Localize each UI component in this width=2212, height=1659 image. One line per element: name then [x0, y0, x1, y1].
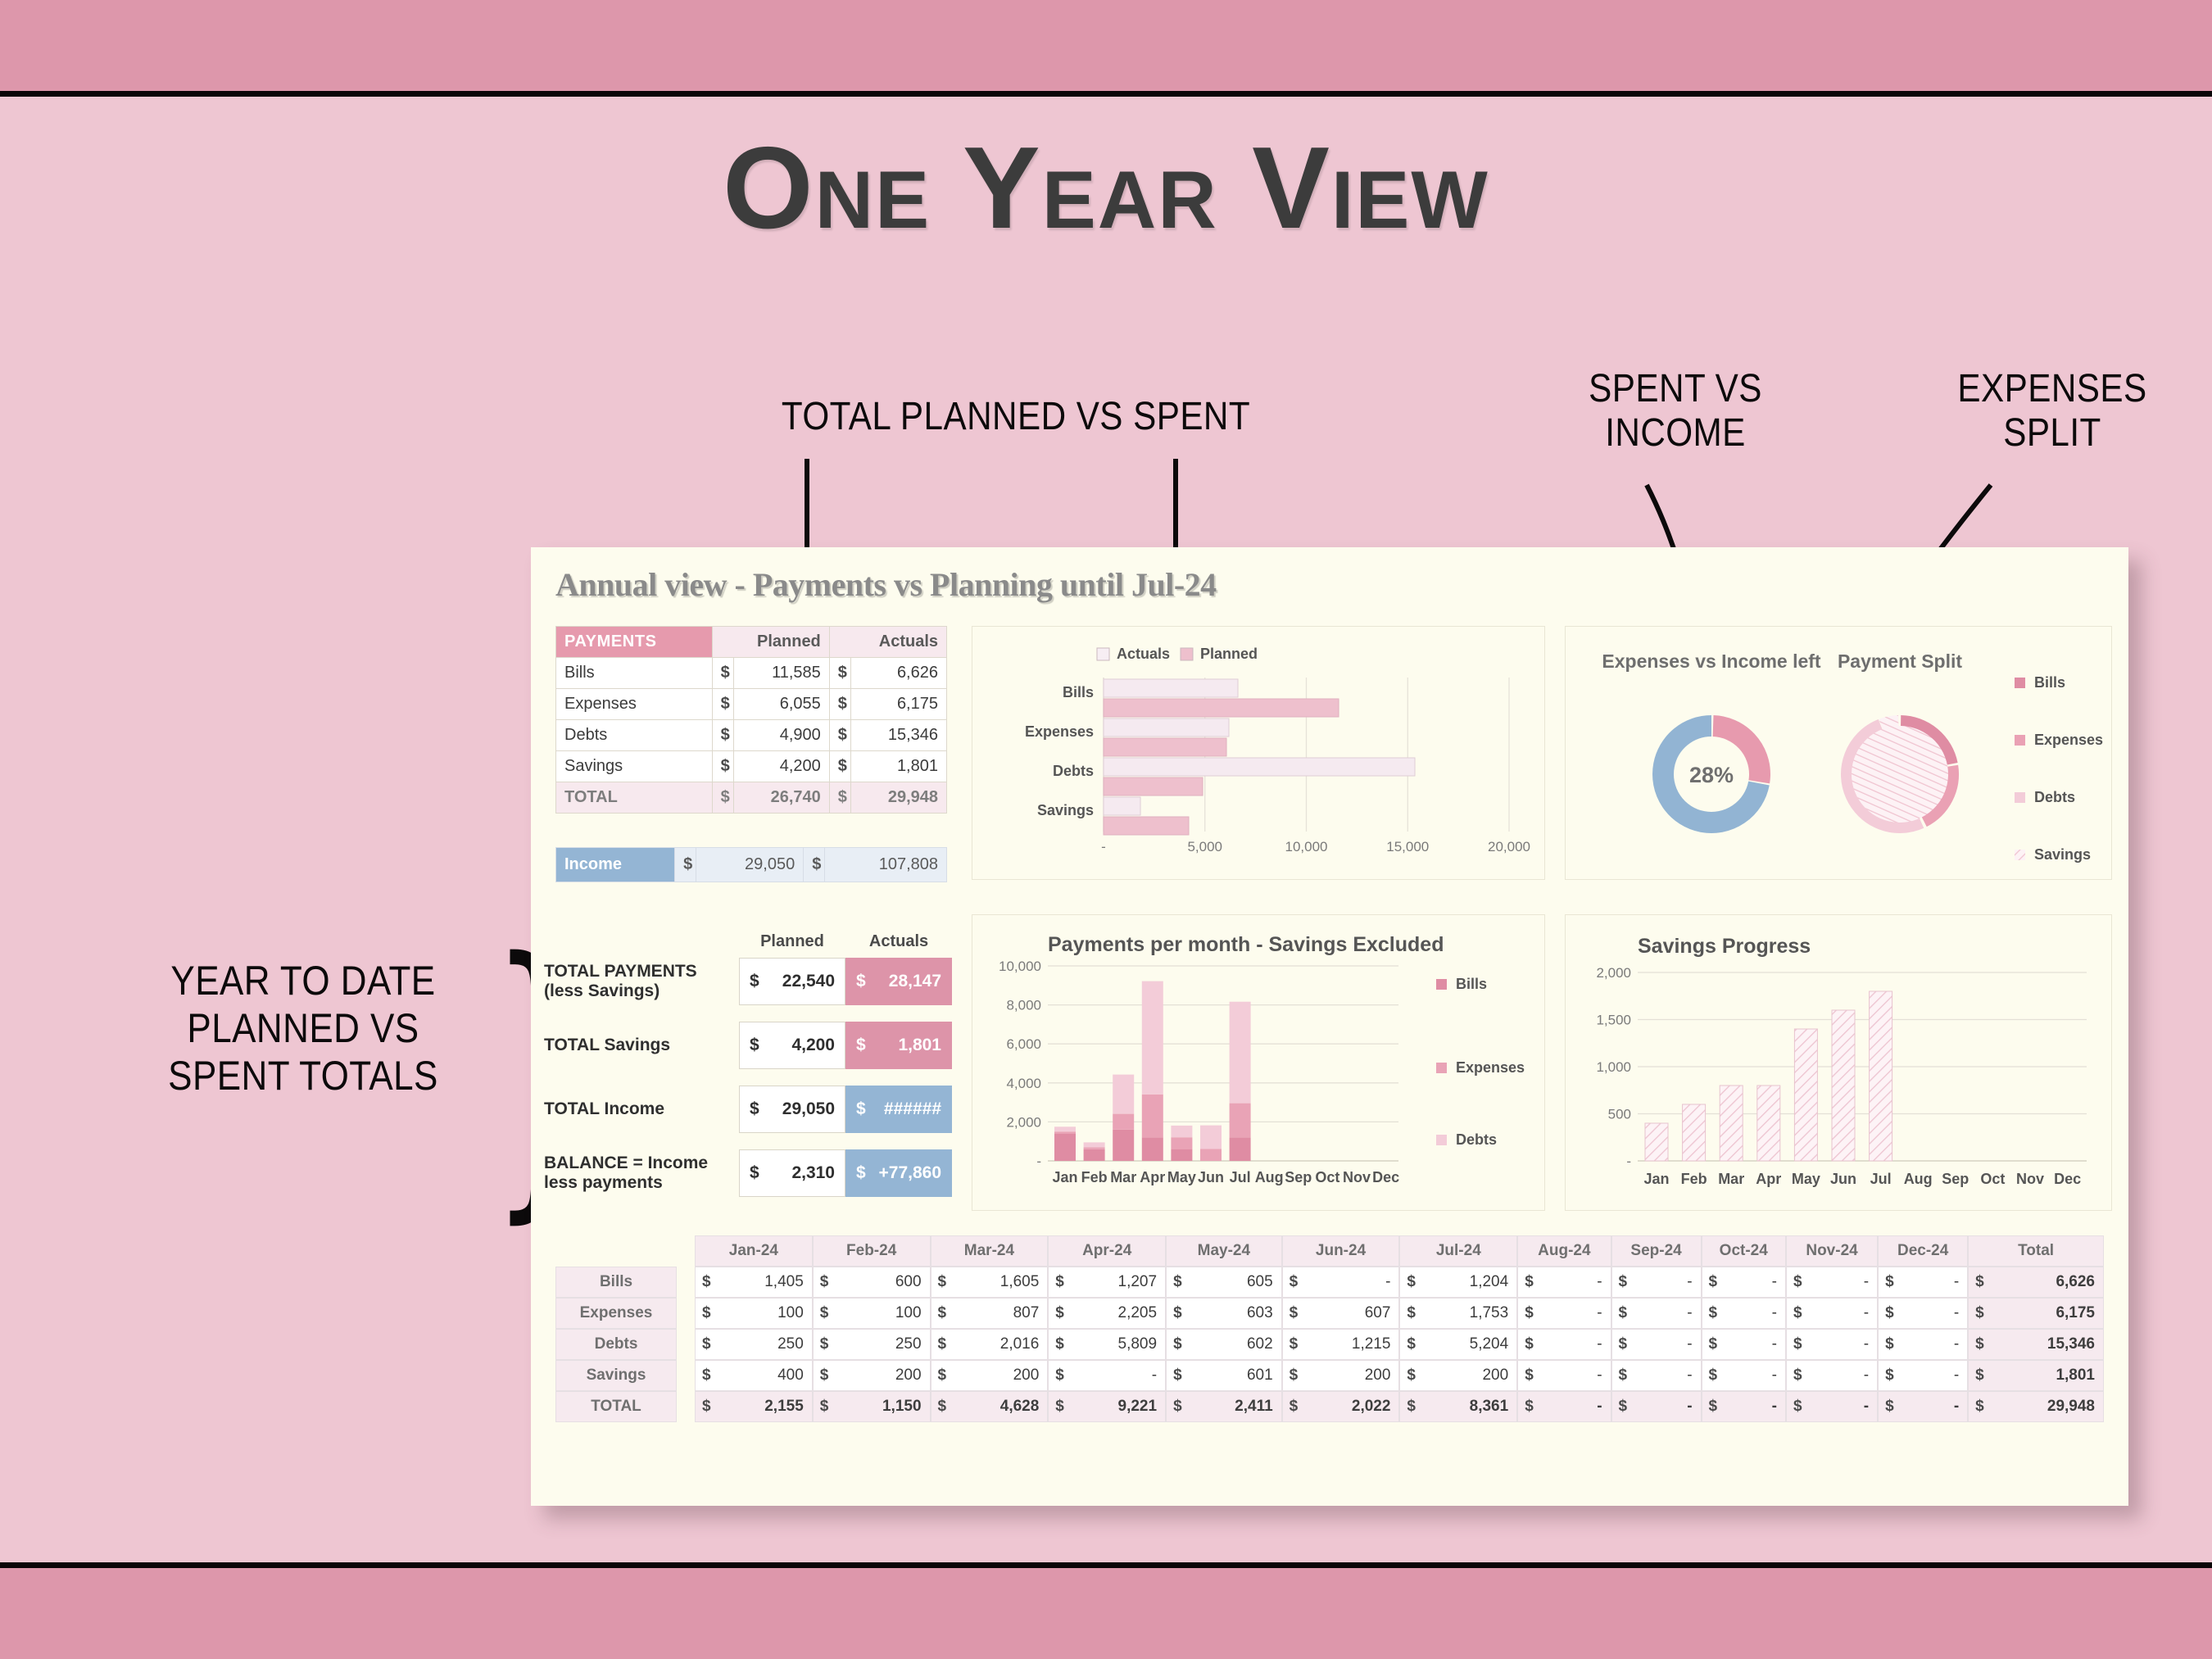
- payments-header-label: PAYMENTS: [556, 627, 713, 658]
- actual-value: 6,626: [850, 658, 946, 689]
- y-tick-3: 8,000: [1006, 998, 1041, 1013]
- currency-symbol: $: [1517, 1329, 1535, 1360]
- spacer-cell: [677, 1267, 695, 1298]
- payments-per-month-svg: Payments per month - Savings Excluded 10…: [972, 915, 1546, 1212]
- x-tick-2: 10,000: [1285, 839, 1328, 854]
- currency-symbol: $: [856, 972, 866, 991]
- currency-symbol: $: [1399, 1391, 1417, 1422]
- currency-symbol: $: [931, 1360, 949, 1391]
- x-label-may: May: [1167, 1169, 1196, 1185]
- ytd-planned-value: 22,540: [782, 972, 835, 991]
- y-tick-0b: 2,000: [1006, 1114, 1041, 1130]
- currency-symbol: $: [1282, 1329, 1300, 1360]
- currency-symbol: $: [1702, 1360, 1720, 1391]
- total-planned: 26,740: [733, 782, 829, 814]
- x-label-nov: Nov: [1343, 1169, 1371, 1185]
- currency-symbol: $: [1702, 1298, 1720, 1329]
- currency-symbol: $: [695, 1298, 713, 1329]
- legend-label-expenses: Expenses: [1456, 1059, 1525, 1076]
- annotation-expenses-split: EXPENSESSPLIT: [1933, 367, 2171, 456]
- currency-symbol: $: [712, 782, 733, 814]
- cell-value: 200: [949, 1360, 1049, 1391]
- currency-symbol: $: [829, 751, 850, 782]
- dashboard-panel: Annual view - Payments vs Planning until…: [531, 547, 2128, 1506]
- planned-value: 4,200: [733, 751, 829, 782]
- currency-symbol: $: [1968, 1329, 1986, 1360]
- cell-value: -: [1720, 1360, 1786, 1391]
- income-row-table: Income $ 29,050 $ 107,808: [555, 847, 947, 882]
- cell-value: -: [1896, 1298, 1968, 1329]
- cell-value: -: [1630, 1267, 1702, 1298]
- currency-symbol: $: [1166, 1329, 1184, 1360]
- cell-value: 6,175: [1986, 1298, 2104, 1329]
- cell-value: 1,207: [1066, 1267, 1166, 1298]
- table-row[interactable]: Expenses$100$100$807$2,205$603$607$1,753…: [555, 1298, 2104, 1329]
- ytd-header-actuals: Actuals: [845, 932, 952, 951]
- chart-donuts[interactable]: Expenses vs Income left Payment Split 28…: [1565, 626, 2112, 880]
- x-label-jul: Jul: [1230, 1169, 1251, 1185]
- donut-payment-split: [1836, 710, 1964, 838]
- ytd-header-planned: Planned: [739, 932, 845, 951]
- ytd-header-row: Planned Actuals: [544, 932, 954, 951]
- x-label-dec: Dec: [1372, 1169, 1399, 1185]
- x-label-oct: Oct: [1315, 1169, 1339, 1185]
- ytd-actual-value: 1,801: [898, 1036, 941, 1055]
- y-tick-0: -: [1626, 1154, 1631, 1169]
- cell-value: 200: [1300, 1360, 1400, 1391]
- cell-value: -: [1804, 1267, 1878, 1298]
- income-planned: 29,050: [696, 848, 804, 882]
- currency-symbol: $: [931, 1329, 949, 1360]
- y-tick-1000: 1,000: [1596, 1059, 1631, 1075]
- bottom-border-band: [0, 1562, 2212, 1659]
- cell-value: 100: [831, 1298, 931, 1329]
- row-label: Bills: [556, 658, 713, 689]
- cell-value: 2,155: [713, 1391, 813, 1422]
- currency-symbol: $: [1878, 1329, 1896, 1360]
- bar-group-jul: [1230, 1002, 1251, 1161]
- table-total-row: TOTAL $ 26,740 $ 29,948: [556, 782, 947, 814]
- ytd-actual-cell: $ ######: [845, 1086, 952, 1133]
- currency-symbol: $: [829, 720, 850, 751]
- column-header-dec: Dec-24: [1878, 1235, 1968, 1267]
- x-label-may: May: [1792, 1171, 1820, 1187]
- table-row[interactable]: Debts$250$250$2,016$5,809$602$1,215$5,20…: [555, 1329, 2104, 1360]
- legend-label-expenses: Expenses: [2034, 732, 2103, 748]
- cell-value: 100: [713, 1298, 813, 1329]
- bar-group-jan: [1054, 1126, 1076, 1161]
- x-label-jun: Jun: [1830, 1171, 1856, 1187]
- x-label-sep: Sep: [1942, 1171, 1969, 1187]
- ytd-label: TOTAL PAYMENTS (less Savings): [544, 962, 739, 1001]
- cell-value: -: [1720, 1267, 1786, 1298]
- cell-value: 1,204: [1417, 1267, 1517, 1298]
- ytd-planned-cell: $ 29,050: [739, 1086, 845, 1133]
- currency-symbol: $: [712, 720, 733, 751]
- bar-apr: [1757, 1086, 1780, 1161]
- x-label-apr: Apr: [1756, 1171, 1781, 1187]
- spacer-cell: [677, 1391, 695, 1422]
- page-title: One Year View: [0, 121, 2212, 256]
- x-tick-1: 5,000: [1187, 839, 1222, 854]
- row-label: Debts: [556, 720, 713, 751]
- cell-value: 605: [1184, 1267, 1282, 1298]
- row-label: Savings: [556, 751, 713, 782]
- spacer-cell: [677, 1329, 695, 1360]
- row-label: TOTAL: [555, 1391, 677, 1422]
- x-label-sep: Sep: [1285, 1169, 1312, 1185]
- currency-symbol: $: [750, 972, 759, 991]
- spacer-cell: [677, 1235, 695, 1267]
- currency-symbol: $: [1611, 1329, 1630, 1360]
- donut-title-payment-split: Payment Split: [1838, 650, 1962, 672]
- category-label-savings: Savings: [1037, 802, 1094, 818]
- table-row[interactable]: Savings$400$200$200$-$601$200$200$-$-$-$…: [555, 1360, 2104, 1391]
- currency-symbol: $: [1702, 1391, 1720, 1422]
- currency-symbol: $: [1611, 1267, 1630, 1298]
- bar-group-mar: [1113, 1075, 1134, 1161]
- planned-value: 11,585: [733, 658, 829, 689]
- cell-value: 5,204: [1417, 1329, 1517, 1360]
- cell-value: -: [1720, 1391, 1786, 1422]
- x-label-oct: Oct: [1980, 1171, 2005, 1187]
- cell-value: -: [1535, 1360, 1611, 1391]
- cell-value: 603: [1184, 1298, 1282, 1329]
- currency-symbol: $: [1048, 1298, 1066, 1329]
- row-label: Savings: [555, 1360, 677, 1391]
- cell-value: 1,150: [831, 1391, 931, 1422]
- ytd-label: TOTAL Income: [544, 1099, 739, 1119]
- row-label: Expenses: [556, 689, 713, 720]
- currency-symbol: $: [829, 782, 850, 814]
- column-header-sep: Sep-24: [1611, 1235, 1702, 1267]
- table-header-row: Jan-24 Feb-24 Mar-24 Apr-24 May-24 Jun-2…: [555, 1235, 2104, 1267]
- x-label-aug: Aug: [1904, 1171, 1933, 1187]
- annotation-spent-vs-income: SPENT VSINCOME: [1542, 367, 1809, 456]
- cell-value: -: [1804, 1329, 1878, 1360]
- currency-symbol: $: [1166, 1298, 1184, 1329]
- cell-value: -: [1804, 1391, 1878, 1422]
- planned-vs-actuals-svg: Actuals Planned Bills Expenses Debts: [972, 627, 1546, 881]
- ytd-label: TOTAL Savings: [544, 1036, 739, 1055]
- chart-payments-per-month[interactable]: Payments per month - Savings Excluded 10…: [972, 914, 1545, 1211]
- bar-mar: [1720, 1086, 1743, 1161]
- currency-symbol: $: [1282, 1267, 1300, 1298]
- cell-value: -: [1535, 1329, 1611, 1360]
- cell-value: 2,022: [1300, 1391, 1400, 1422]
- currency-symbol: $: [1611, 1360, 1630, 1391]
- ytd-planned-value: 2,310: [791, 1163, 835, 1183]
- currency-symbol: $: [1399, 1360, 1417, 1391]
- ytd-actual-value: +77,860: [879, 1163, 942, 1183]
- x-label-jul: Jul: [1870, 1171, 1892, 1187]
- x-label-nov: Nov: [2016, 1171, 2044, 1187]
- ytd-label: BALANCE = Income less payments: [544, 1154, 739, 1193]
- ytd-planned-cell: $ 22,540: [739, 958, 845, 1005]
- currency-symbol: $: [695, 1329, 713, 1360]
- currency-symbol: $: [813, 1329, 831, 1360]
- spacer-cell: [555, 1235, 677, 1267]
- ytd-planned-value: 4,200: [791, 1036, 835, 1055]
- bar-jul: [1870, 991, 1892, 1161]
- currency-symbol: $: [813, 1391, 831, 1422]
- bar-jun: [1832, 1010, 1855, 1161]
- column-header-total: Total: [1968, 1235, 2104, 1267]
- payments-header-planned: Planned: [712, 627, 829, 658]
- cell-value: 2,016: [949, 1329, 1049, 1360]
- donut-center-label: 28%: [1689, 763, 1734, 787]
- currency-symbol: $: [1166, 1391, 1184, 1422]
- income-row[interactable]: Income $ 29,050 $ 107,808: [556, 848, 947, 882]
- bar-group-may: [1171, 1126, 1192, 1161]
- cell-value: 200: [831, 1360, 931, 1391]
- currency-symbol: $: [1048, 1267, 1066, 1298]
- x-label-jan: Jan: [1052, 1169, 1077, 1185]
- x-tick-3: 15,000: [1386, 839, 1429, 854]
- actual-value: 1,801: [850, 751, 946, 782]
- cell-value: -: [1896, 1391, 1968, 1422]
- cell-value: -: [1066, 1360, 1166, 1391]
- currency-symbol: $: [1702, 1329, 1720, 1360]
- currency-symbol: $: [695, 1391, 713, 1422]
- cell-value: 8,361: [1417, 1391, 1517, 1422]
- currency-symbol: $: [1611, 1391, 1630, 1422]
- chart-title-payments-per-month: Payments per month - Savings Excluded: [1048, 933, 1444, 956]
- currency-symbol: $: [1517, 1391, 1535, 1422]
- cell-value: 6,626: [1986, 1267, 2104, 1298]
- cell-value: 1,753: [1417, 1298, 1517, 1329]
- cell-value: 807: [949, 1298, 1049, 1329]
- monthly-breakdown-table: Jan-24 Feb-24 Mar-24 Apr-24 May-24 Jun-2…: [555, 1235, 2104, 1422]
- spacer-cell: [677, 1298, 695, 1329]
- actual-value: 6,175: [850, 689, 946, 720]
- ytd-row-total-income[interactable]: TOTAL Income $ 29,050 $ ######: [544, 1084, 954, 1135]
- currency-symbol: $: [1048, 1329, 1066, 1360]
- currency-symbol: $: [931, 1391, 949, 1422]
- y-tick-2000: 2,000: [1596, 965, 1631, 981]
- currency-symbol: $: [1786, 1391, 1804, 1422]
- currency-symbol: $: [675, 848, 696, 882]
- currency-symbol: $: [1968, 1360, 1986, 1391]
- currency-symbol: $: [856, 1163, 866, 1183]
- currency-symbol: $: [829, 658, 850, 689]
- ytd-planned-cell: $ 2,310: [739, 1149, 845, 1197]
- ytd-actual-cell: $ 28,147: [845, 958, 952, 1005]
- currency-symbol: $: [1399, 1267, 1417, 1298]
- cell-value: 1,405: [713, 1267, 813, 1298]
- currency-symbol: $: [1517, 1267, 1535, 1298]
- x-label-feb: Feb: [1081, 1169, 1108, 1185]
- currency-symbol: $: [1166, 1267, 1184, 1298]
- cell-value: -: [1720, 1298, 1786, 1329]
- currency-symbol: $: [856, 1036, 866, 1055]
- currency-symbol: $: [1968, 1267, 1986, 1298]
- x-tick-4: 20,000: [1488, 839, 1530, 854]
- x-label-dec: Dec: [2054, 1171, 2081, 1187]
- payments-header-actuals: Actuals: [829, 627, 946, 658]
- currency-symbol: $: [712, 751, 733, 782]
- bar-group-jun: [1200, 1126, 1222, 1161]
- cell-value: -: [1896, 1360, 1968, 1391]
- y-tick-1500: 1,500: [1596, 1013, 1631, 1028]
- table-row[interactable]: Debts $ 4,900 $ 15,346: [556, 720, 947, 751]
- cell-value: -: [1896, 1267, 1968, 1298]
- bar-group-apr: [1142, 981, 1163, 1161]
- currency-symbol: $: [1786, 1267, 1804, 1298]
- y-tick-1: 4,000: [1006, 1076, 1041, 1091]
- currency-symbol: $: [750, 1163, 759, 1183]
- table-row[interactable]: Expenses $ 6,055 $ 6,175: [556, 689, 947, 720]
- cell-value: -: [1535, 1298, 1611, 1329]
- cell-value: -: [1535, 1267, 1611, 1298]
- x-label-mar: Mar: [1718, 1171, 1744, 1187]
- y-tick-4: 10,000: [999, 959, 1041, 974]
- x-label-feb: Feb: [1681, 1171, 1707, 1187]
- planned-value: 6,055: [733, 689, 829, 720]
- cell-value: 600: [831, 1267, 931, 1298]
- column-header-jan: Jan-24: [695, 1235, 813, 1267]
- currency-symbol: $: [1282, 1360, 1300, 1391]
- cell-value: -: [1300, 1267, 1400, 1298]
- cell-value: 15,346: [1986, 1329, 2104, 1360]
- column-header-mar: Mar-24: [931, 1235, 1049, 1267]
- currency-symbol: $: [1282, 1298, 1300, 1329]
- cell-value: -: [1896, 1329, 1968, 1360]
- cell-value: -: [1630, 1298, 1702, 1329]
- chart-title-savings-progress: Savings Progress: [1638, 935, 1811, 958]
- row-label: Expenses: [555, 1298, 677, 1329]
- currency-symbol: $: [1968, 1391, 1986, 1422]
- currency-symbol: $: [1048, 1391, 1066, 1422]
- column-header-aug: Aug-24: [1517, 1235, 1611, 1267]
- cell-value: 400: [713, 1360, 813, 1391]
- currency-symbol: $: [804, 848, 825, 882]
- ytd-totals-block: Planned Actuals TOTAL PAYMENTS (less Sav…: [544, 932, 954, 1212]
- currency-symbol: $: [695, 1267, 713, 1298]
- currency-symbol: $: [750, 1036, 759, 1055]
- cell-value: 250: [831, 1329, 931, 1360]
- column-header-may: May-24: [1166, 1235, 1282, 1267]
- currency-symbol: $: [813, 1267, 831, 1298]
- currency-symbol: $: [1968, 1298, 1986, 1329]
- ytd-row-total-payments[interactable]: TOTAL PAYMENTS (less Savings) $ 22,540 $…: [544, 956, 954, 1007]
- category-label-expenses: Expenses: [1025, 723, 1094, 740]
- currency-symbol: $: [1702, 1267, 1720, 1298]
- currency-symbol: $: [1166, 1360, 1184, 1391]
- currency-symbol: $: [1786, 1329, 1804, 1360]
- currency-symbol: $: [1282, 1391, 1300, 1422]
- table-total-row[interactable]: TOTAL$2,155$1,150$4,628$9,221$2,411$2,02…: [555, 1391, 2104, 1422]
- row-label: Bills: [555, 1267, 677, 1298]
- cell-value: 9,221: [1066, 1391, 1166, 1422]
- currency-symbol: $: [1786, 1360, 1804, 1391]
- bar-feb: [1683, 1104, 1706, 1161]
- cell-value: -: [1804, 1298, 1878, 1329]
- y-tick-2: 6,000: [1006, 1036, 1041, 1052]
- row-label: Debts: [555, 1329, 677, 1360]
- cell-value: 601: [1184, 1360, 1282, 1391]
- currency-symbol: $: [1517, 1360, 1535, 1391]
- cell-value: -: [1630, 1329, 1702, 1360]
- column-header-jul: Jul-24: [1399, 1235, 1517, 1267]
- column-header-jun: Jun-24: [1282, 1235, 1400, 1267]
- y-tick-0: -: [1036, 1154, 1041, 1169]
- bar-jan: [1645, 1123, 1668, 1161]
- cell-value: 29,948: [1986, 1391, 2104, 1422]
- currency-symbol: $: [1611, 1298, 1630, 1329]
- legend-label-planned: Planned: [1200, 646, 1258, 662]
- table-row[interactable]: Bills $ 11,585 $ 6,626: [556, 658, 947, 689]
- ytd-row-total-savings[interactable]: TOTAL Savings $ 4,200 $ 1,801: [544, 1020, 954, 1071]
- ytd-actual-cell: $ 1,801: [845, 1022, 952, 1069]
- y-tick-500: 500: [1608, 1107, 1631, 1122]
- column-header-apr: Apr-24: [1048, 1235, 1166, 1267]
- income-label: Income: [556, 848, 675, 882]
- currency-symbol: $: [1399, 1298, 1417, 1329]
- cell-value: -: [1720, 1329, 1786, 1360]
- legend-label-bills: Bills: [1456, 976, 1487, 992]
- currency-symbol: $: [856, 1099, 866, 1119]
- x-label-mar: Mar: [1110, 1169, 1136, 1185]
- legend-label-savings: Savings: [2034, 846, 2091, 863]
- cell-value: 1,215: [1300, 1329, 1400, 1360]
- legend-label-debts: Debts: [2034, 789, 2075, 805]
- currency-symbol: $: [1399, 1329, 1417, 1360]
- chart-planned-vs-actuals[interactable]: Actuals Planned Bills Expenses Debts: [972, 626, 1545, 880]
- x-tick-0: -: [1101, 839, 1106, 854]
- donuts-svg: Expenses vs Income left Payment Split 28…: [1566, 627, 2113, 881]
- currency-symbol: $: [1048, 1360, 1066, 1391]
- cell-value: -: [1630, 1360, 1702, 1391]
- total-label: TOTAL: [556, 782, 713, 814]
- currency-symbol: $: [931, 1267, 949, 1298]
- cell-value: 5,809: [1066, 1329, 1166, 1360]
- annotation-total-planned-vs-spent: TOTAL PLANNED VS SPENT: [756, 395, 1276, 439]
- table-row[interactable]: Savings $ 4,200 $ 1,801: [556, 751, 947, 782]
- chart-savings-progress[interactable]: Savings Progress 2,000 1,500 1,000 500 -…: [1565, 914, 2112, 1211]
- ytd-planned-cell: $ 4,200: [739, 1022, 845, 1069]
- currency-symbol: $: [712, 658, 733, 689]
- x-label-jan: Jan: [1643, 1171, 1669, 1187]
- cell-value: 1,605: [949, 1267, 1049, 1298]
- cell-value: -: [1630, 1391, 1702, 1422]
- currency-symbol: $: [695, 1360, 713, 1391]
- currency-symbol: $: [813, 1298, 831, 1329]
- table-row[interactable]: Bills$1,405$600$1,605$1,207$605$-$1,204$…: [555, 1267, 2104, 1298]
- cell-value: 1,801: [1986, 1360, 2104, 1391]
- bar-may: [1794, 1029, 1817, 1161]
- ytd-actual-cell: $ +77,860: [845, 1149, 952, 1197]
- table-header-row: PAYMENTS Planned Actuals: [556, 627, 947, 658]
- cell-value: 2,205: [1066, 1298, 1166, 1329]
- ytd-row-balance[interactable]: BALANCE = Income less payments $ 2,310 $…: [544, 1148, 954, 1199]
- planned-value: 4,900: [733, 720, 829, 751]
- savings-progress-svg: Savings Progress 2,000 1,500 1,000 500 -…: [1566, 915, 2113, 1212]
- column-header-feb: Feb-24: [813, 1235, 931, 1267]
- currency-symbol: $: [712, 689, 733, 720]
- donut-title-expenses-vs-income: Expenses vs Income left: [1602, 650, 1821, 672]
- ytd-planned-value: 29,050: [782, 1099, 835, 1119]
- currency-symbol: $: [1517, 1298, 1535, 1329]
- category-label-bills: Bills: [1063, 684, 1094, 700]
- x-label-aug: Aug: [1255, 1169, 1284, 1185]
- dashboard-title: Annual view - Payments vs Planning until…: [555, 565, 1217, 604]
- cell-value: 250: [713, 1329, 813, 1360]
- x-label-apr: Apr: [1140, 1169, 1165, 1185]
- bar-group-feb: [1084, 1142, 1105, 1161]
- total-actuals: 29,948: [850, 782, 946, 814]
- currency-symbol: $: [931, 1298, 949, 1329]
